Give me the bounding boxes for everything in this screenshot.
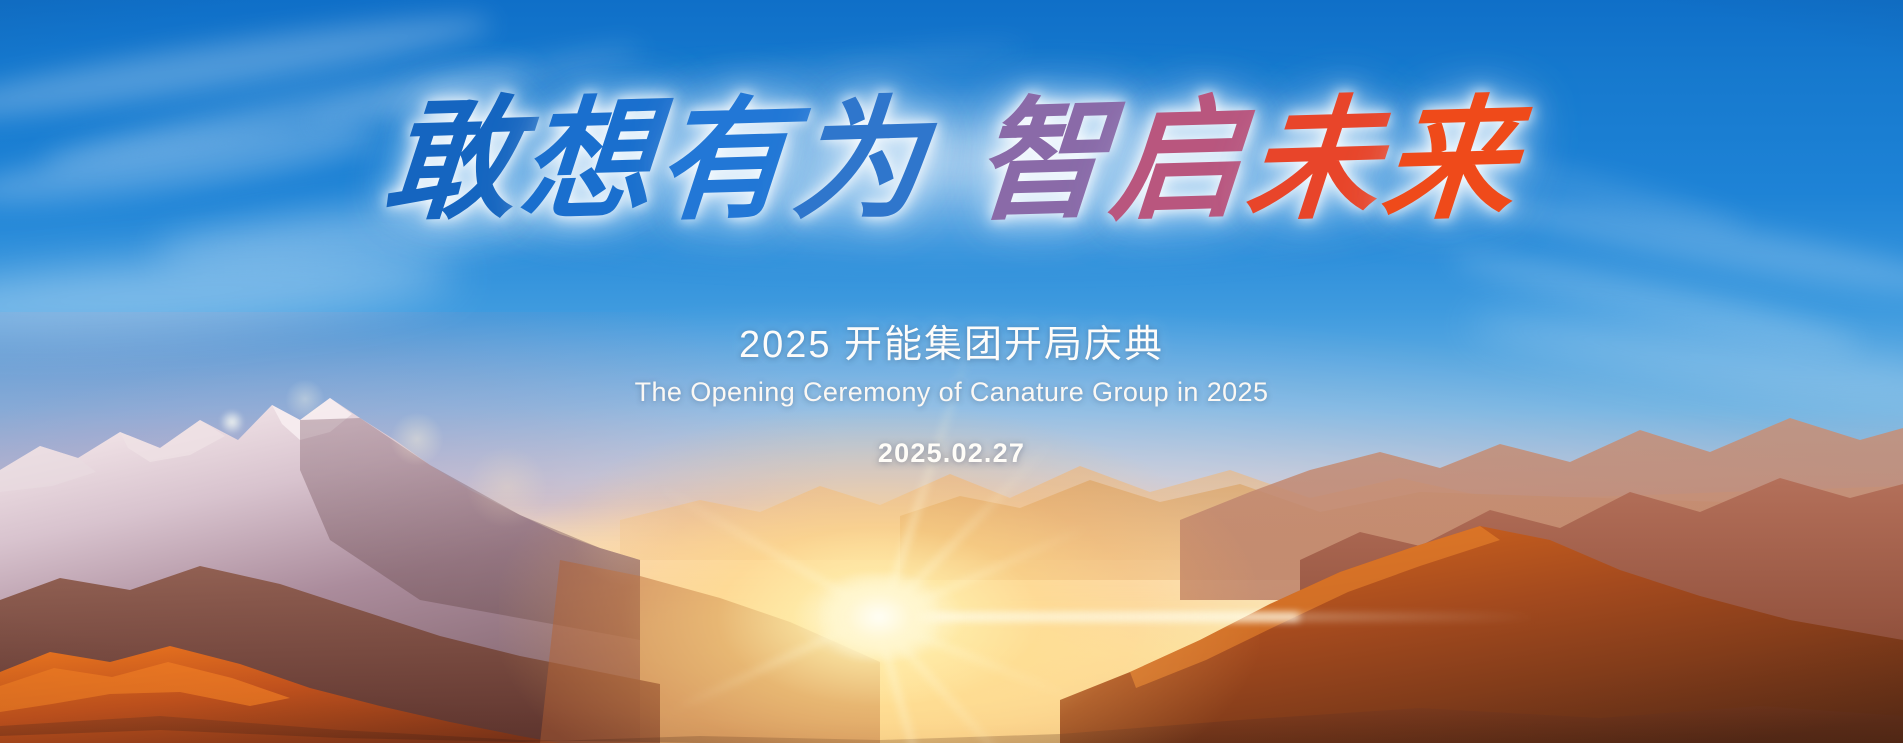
sun-horizontal-ray bbox=[879, 613, 1299, 621]
sunrise-sun-core bbox=[819, 574, 939, 660]
event-banner: 敢想有为智启未来 2025 开能集团开局庆典 The Opening Cerem… bbox=[0, 0, 1903, 743]
